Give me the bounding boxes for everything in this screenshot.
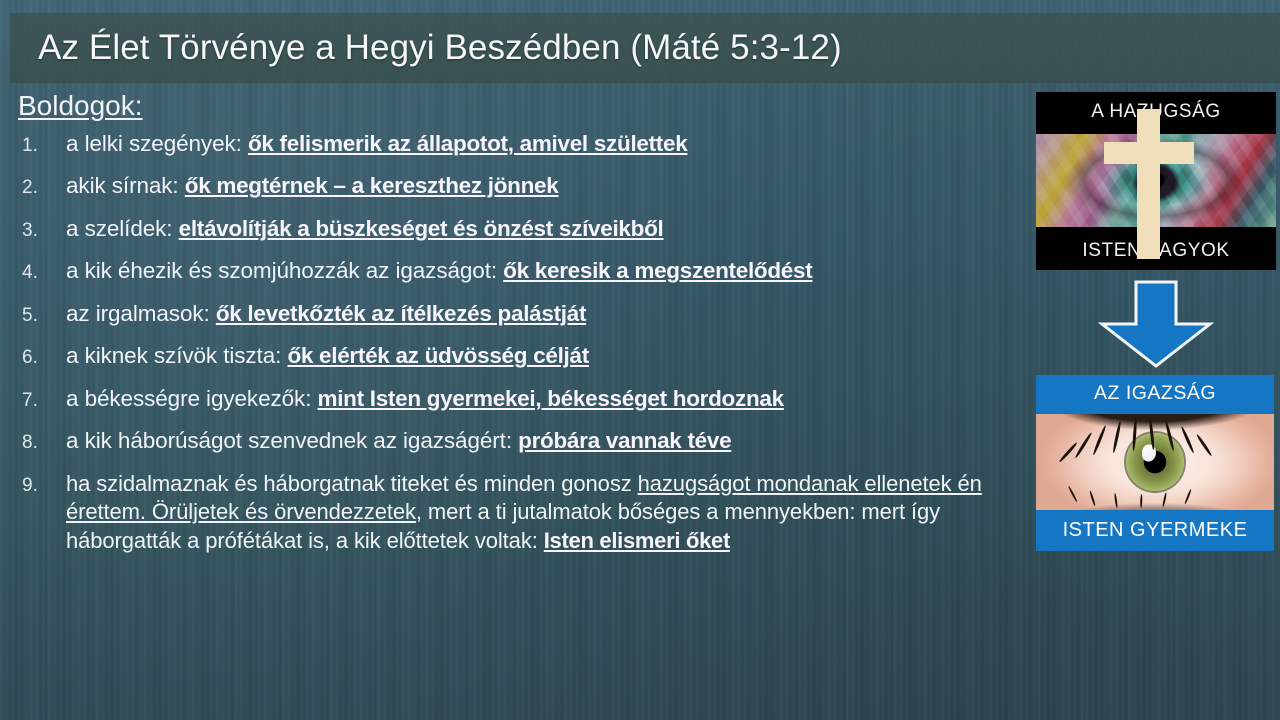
list-item-number: 5. bbox=[14, 304, 66, 327]
down-arrow-icon bbox=[1098, 280, 1214, 368]
page-title: Az Élet Törvénye a Hegyi Beszédben (Máté… bbox=[38, 28, 842, 68]
list-item-highlight: próbára vannak téve bbox=[518, 428, 731, 453]
list-item-body: a kik háborúságot szenvednek az igazságé… bbox=[66, 427, 1034, 454]
eyelash bbox=[1092, 424, 1107, 455]
list-item-highlight: ők elérték az üdvösség célját bbox=[287, 343, 588, 368]
eyelash-lower bbox=[1114, 493, 1118, 508]
list-item-body: a békességre igyekezők: mint Isten gyerm… bbox=[66, 385, 1034, 412]
eyelash-lower bbox=[1184, 488, 1192, 504]
cross-icon bbox=[1137, 109, 1160, 259]
list-item: 6. a kiknek szívök tiszta: ők elérték az… bbox=[14, 342, 1034, 369]
eyelash-lower bbox=[1140, 493, 1142, 507]
eyelash-lower bbox=[1162, 492, 1167, 507]
eyelash bbox=[1058, 441, 1078, 462]
list-item-number: 1. bbox=[14, 134, 66, 157]
list-item-highlight: ők felismerik az állapotot, amivel szüle… bbox=[248, 131, 687, 156]
arrow-container bbox=[1036, 276, 1276, 371]
eyelash bbox=[1196, 433, 1213, 456]
slide-title-band: Az Élet Törvénye a Hegyi Beszédben (Máté… bbox=[10, 13, 1280, 83]
item9-part1: ha szidalmaznak és háborgatnak titeket é… bbox=[66, 471, 638, 496]
list-item-lead: akik sírnak: bbox=[66, 173, 185, 198]
list-item-highlight: ők keresik a megszentelődést bbox=[503, 258, 812, 283]
list-item-lead: a kik éhezik és szomjúhozzák az igazságo… bbox=[66, 258, 503, 283]
presentation-slide: Az Élet Törvénye a Hegyi Beszédben (Máté… bbox=[0, 0, 1280, 720]
list-item: 9. ha szidalmaznak és háborgatnak titeke… bbox=[14, 470, 1034, 556]
list-item: 4. a kik éhezik és szomjúhozzák az igazs… bbox=[14, 257, 1034, 284]
list-item-highlight: eltávolítják a büszkeséget és önzést szí… bbox=[179, 216, 664, 241]
list-item: 8. a kik háborúságot szenvednek az igazs… bbox=[14, 427, 1034, 454]
list-item-number: 7. bbox=[14, 389, 66, 412]
figure-truth-caption-top: AZ IGAZSÁG bbox=[1036, 375, 1274, 414]
list-item-lead: az irgalmasok: bbox=[66, 301, 216, 326]
list-item-number: 2. bbox=[14, 176, 66, 199]
body-heading: Boldogok: bbox=[14, 92, 1034, 120]
list-item-body: az irgalmasok: ők levetkőzték az ítélkez… bbox=[66, 300, 1034, 327]
item9-highlight: Isten elismeri őket bbox=[544, 528, 730, 553]
list-item-number: 8. bbox=[14, 431, 66, 454]
list-item-body: a lelki szegények: ők felismerik az álla… bbox=[66, 130, 1034, 157]
eyelash bbox=[1180, 425, 1195, 453]
list-item-lead: a kiknek szívök tiszta: bbox=[66, 343, 287, 368]
list-item-lead: a szelídek: bbox=[66, 216, 179, 241]
eyelash-lower bbox=[1089, 490, 1096, 506]
figure-truth: AZ IGAZSÁG ISTEN GYERMEKE bbox=[1036, 375, 1274, 551]
eyelash-lower bbox=[1068, 485, 1078, 502]
list-item-number: 6. bbox=[14, 346, 66, 369]
list-item-lead: a kik háborúságot szenvednek az igazságé… bbox=[66, 428, 518, 453]
list-item-body: a kik éhezik és szomjúhozzák az igazságo… bbox=[66, 257, 1034, 284]
figure-lie: A HAZUGSÁG ISTEN VAGYOK bbox=[1036, 92, 1276, 270]
eyelash bbox=[1074, 431, 1092, 458]
list-item-body: akik sírnak: ők megtérnek – a kereszthez… bbox=[66, 172, 1034, 199]
list-item-number: 4. bbox=[14, 261, 66, 284]
list-item-number: 3. bbox=[14, 219, 66, 242]
eyelash bbox=[1112, 420, 1122, 453]
list-item-lead: a lelki szegények: bbox=[66, 131, 248, 156]
list-item-lead: a békességre igyekezők: bbox=[66, 386, 318, 411]
list-item: 2. akik sírnak: ők megtérnek – a kereszt… bbox=[14, 172, 1034, 199]
figure-column: A HAZUGSÁG ISTEN VAGYOK AZ IGAZSÁG bbox=[1036, 92, 1276, 551]
eyelash bbox=[1132, 417, 1137, 450]
list-item-body: a szelídek: eltávolítják a büszkeséget é… bbox=[66, 215, 1034, 242]
green-eye-photo bbox=[1036, 414, 1274, 510]
list-item: 5. az irgalmasok: ők levetkőzték az ítél… bbox=[14, 300, 1034, 327]
figure-truth-caption-bottom: ISTEN GYERMEKE bbox=[1036, 510, 1274, 551]
list-item-body: ha szidalmaznak és háborgatnak titeket é… bbox=[66, 470, 1034, 556]
beatitudes-list: 1. a lelki szegények: ők felismerik az á… bbox=[14, 130, 1034, 555]
list-item: 1. a lelki szegények: ők felismerik az á… bbox=[14, 130, 1034, 157]
list-item: 7. a békességre igyekezők: mint Isten gy… bbox=[14, 385, 1034, 412]
list-item-body: a kiknek szívök tiszta: ők elérték az üd… bbox=[66, 342, 1034, 369]
cross-icon-bar bbox=[1104, 142, 1194, 164]
eyelash bbox=[1165, 420, 1175, 451]
list-item-highlight: mint Isten gyermekei, békességet hordozn… bbox=[318, 386, 784, 411]
list-item-highlight: ők levetkőzték az ítélkezés palástját bbox=[216, 301, 586, 326]
slide-body: Boldogok: 1. a lelki szegények: ők felis… bbox=[14, 92, 1034, 570]
list-item-number: 9. bbox=[14, 474, 66, 499]
list-item-highlight: ők megtérnek – a kereszthez jönnek bbox=[185, 173, 559, 198]
list-item: 3. a szelídek: eltávolítják a büszkesége… bbox=[14, 215, 1034, 242]
